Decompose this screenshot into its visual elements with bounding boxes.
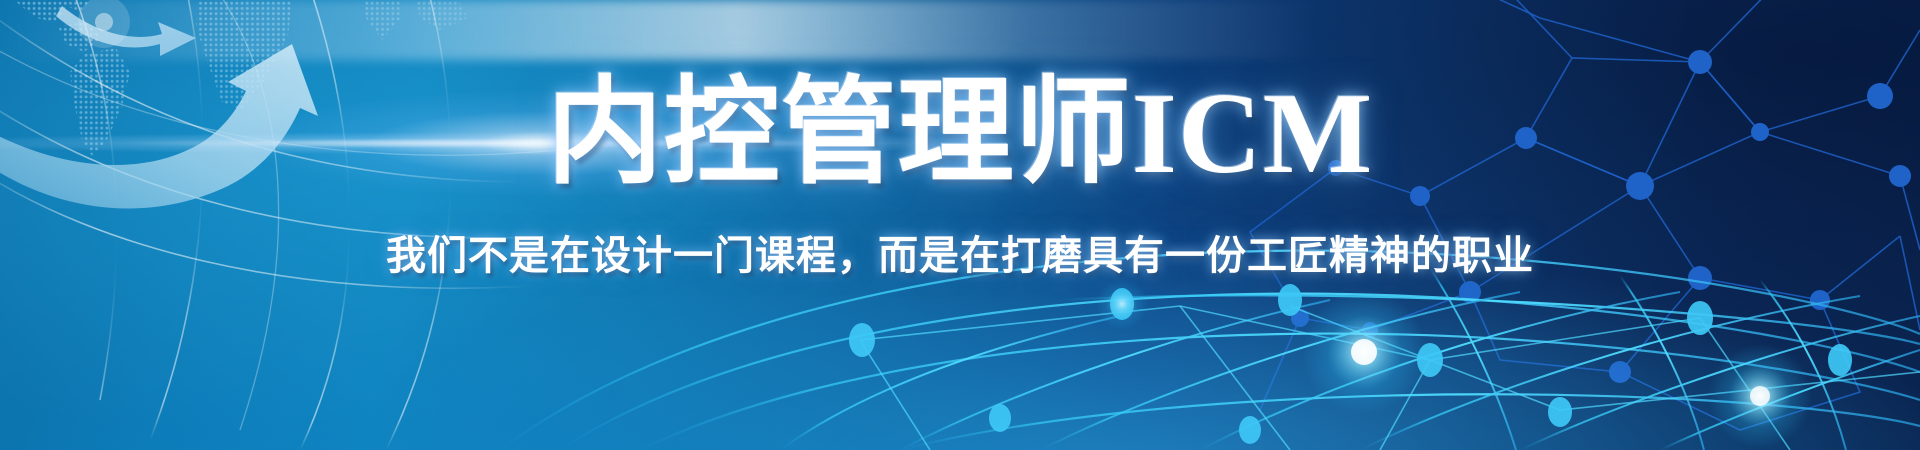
hero-banner: 内控管理师ICM 我们不是在设计一门课程，而是在打磨具有一份工匠精神的职业 (0, 0, 1920, 450)
background-vignette (0, 0, 1920, 450)
